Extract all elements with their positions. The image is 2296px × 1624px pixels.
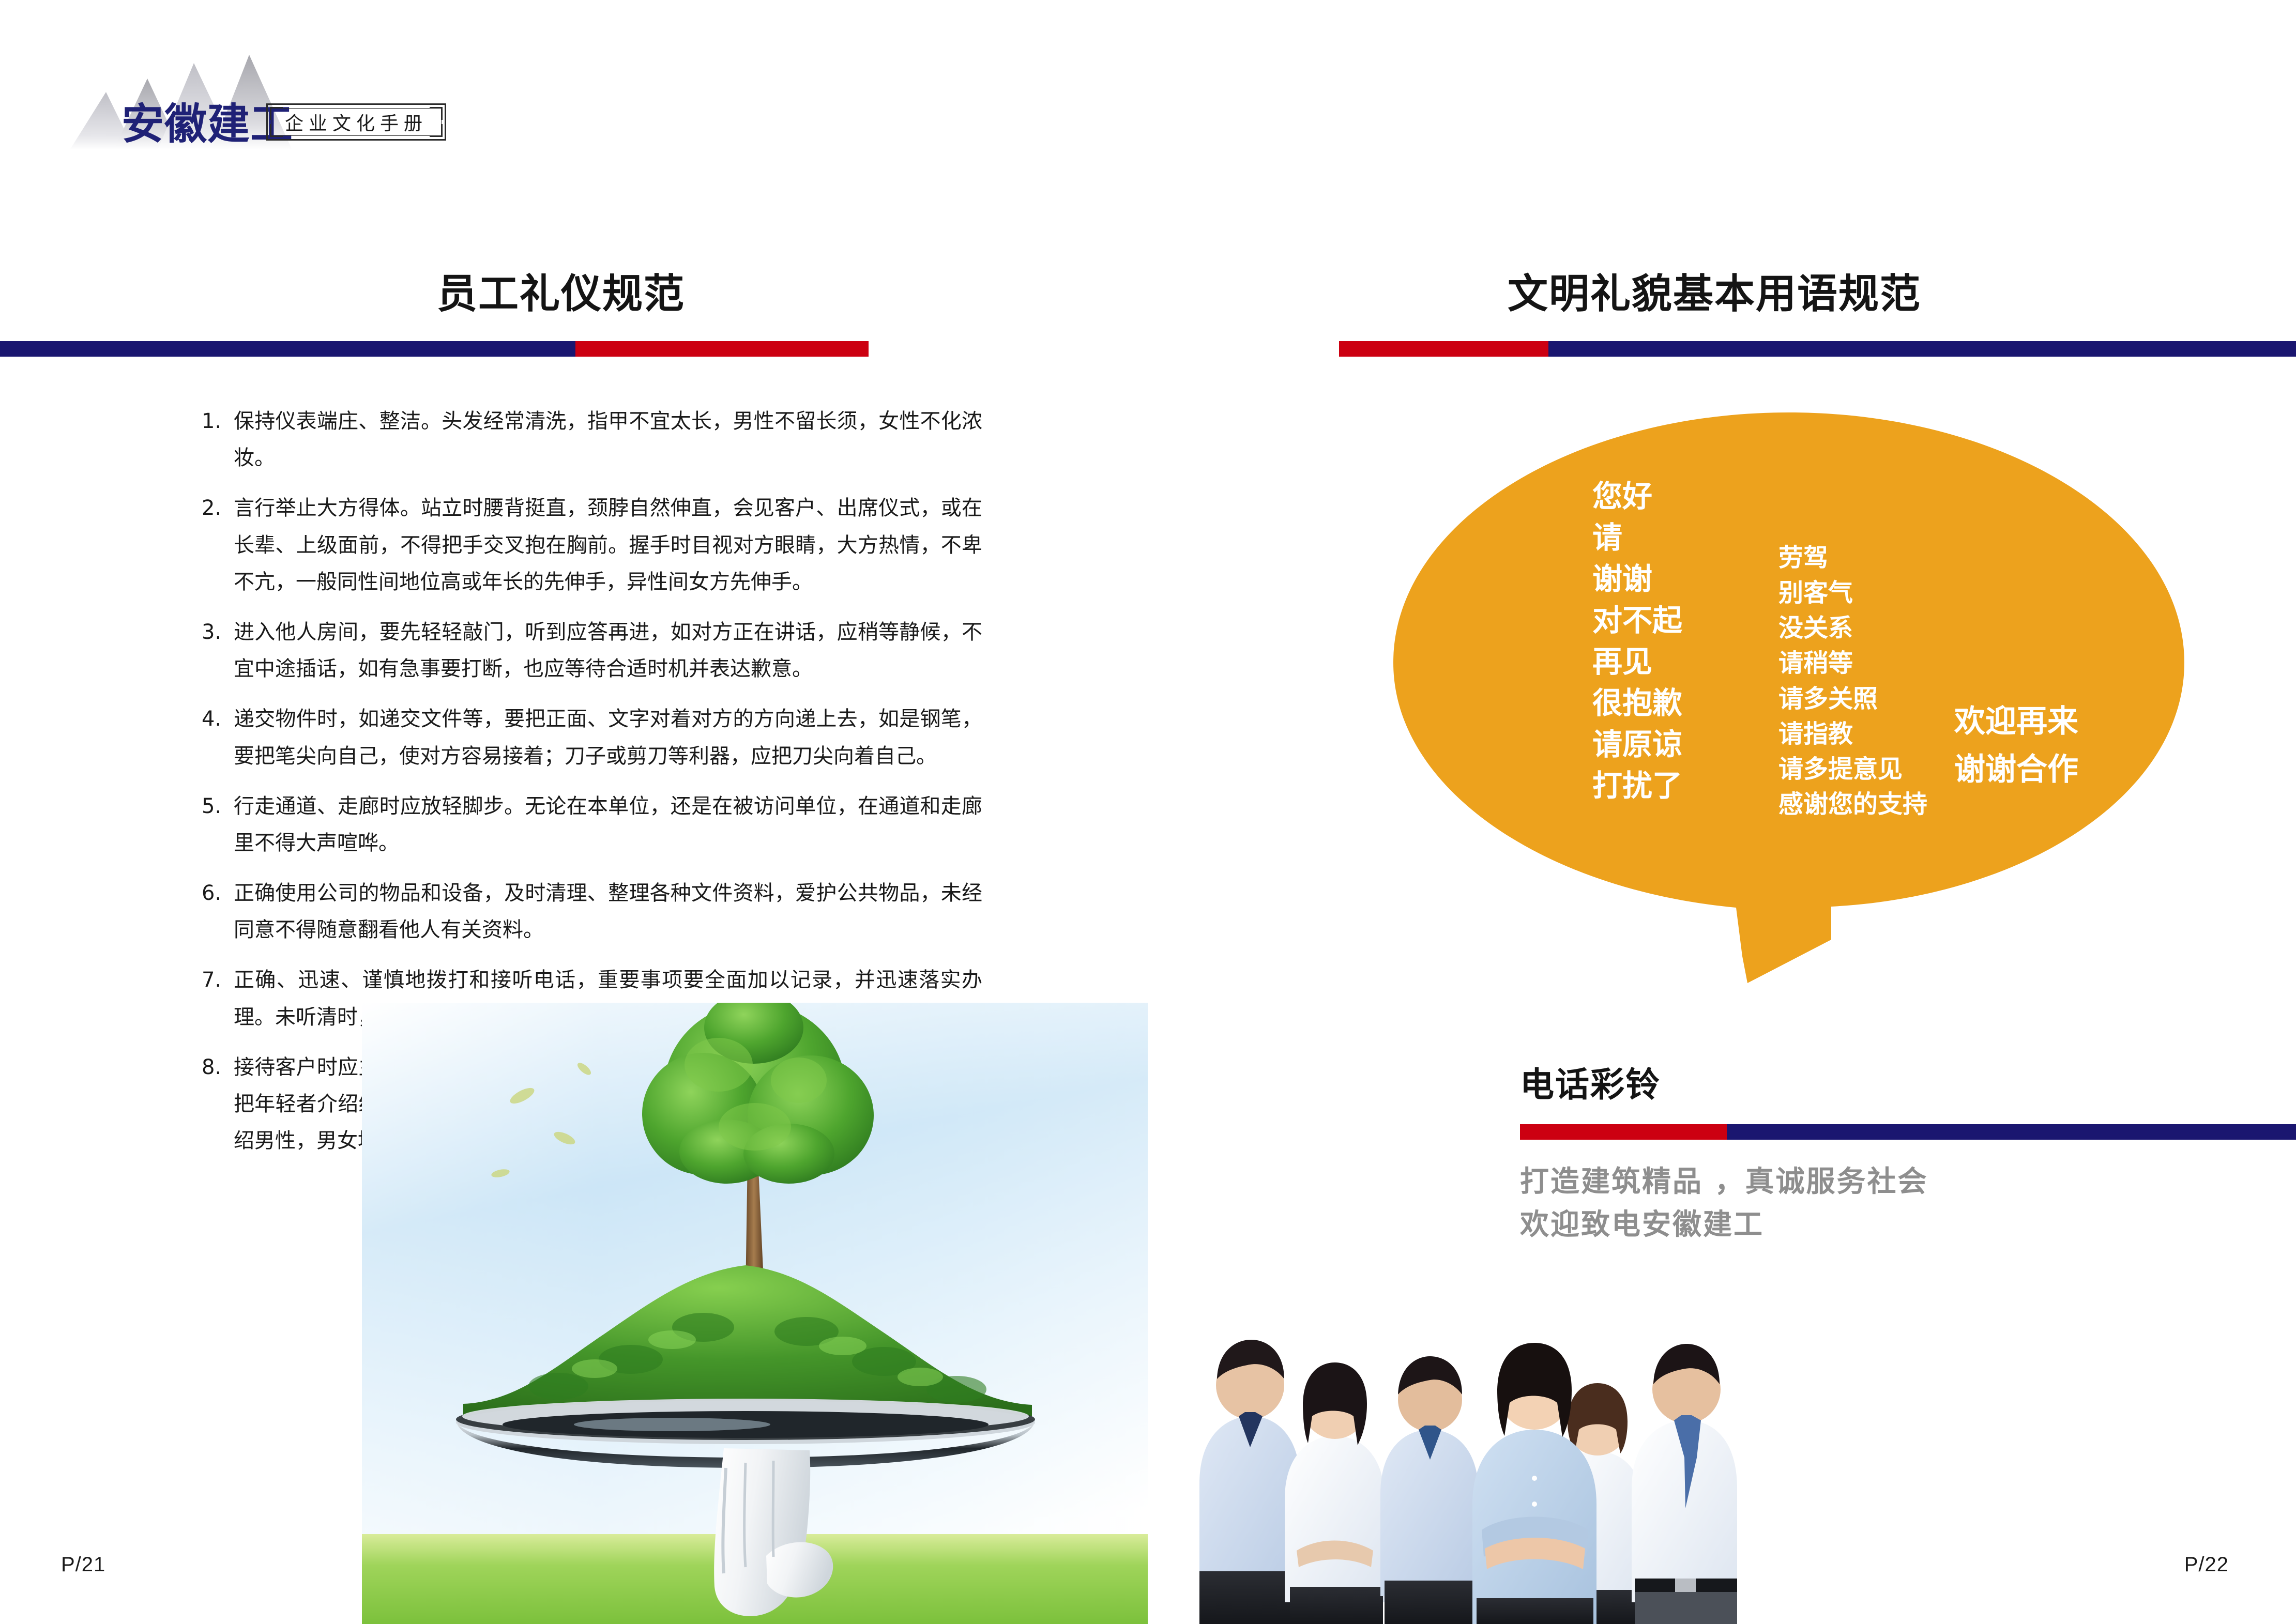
phrase: 请多关照 (1778, 681, 1927, 716)
list-item: 2. 言行举止大方得体。站立时腰背挺直，颈脖自然伸直，会见客户、出席仪式，或在长… (202, 490, 982, 601)
phrase: 感谢您的支持 (1778, 787, 1927, 822)
brand-header: 安徽建工 企业文化手册 (57, 52, 481, 150)
list-item-text: 正确使用公司的物品和设备，及时清理、整理各种文件资料，爱护公共物品，未经同意不得… (234, 875, 982, 948)
right-title-rule (1339, 341, 2296, 357)
left-page: 安徽建工 企业文化手册 员工礼仪规范 1. 保持仪表端庄、整洁。头发经常清洗，指… (0, 0, 1148, 1624)
phrase: 谢谢 (1592, 558, 1682, 600)
list-item-number: 3. (202, 614, 234, 687)
rule-segment-navy (0, 341, 575, 357)
ringtone-line: 打造建筑精品 ，真诚服务社会 (1520, 1160, 1928, 1203)
list-item: 3. 进入他人房间，要先轻轻敲门，听到应答再进，如对方正在讲话，应稍等静候，不宜… (202, 614, 982, 687)
phrase: 劳驾 (1778, 540, 1927, 575)
frame-corner-tl-icon (270, 107, 283, 120)
list-item-number: 5. (202, 788, 234, 862)
phrase: 请原谅 (1592, 724, 1682, 765)
bubble-column-3: 欢迎再来 谢谢合作 (1954, 698, 2078, 794)
phrase: 对不起 (1592, 600, 1682, 641)
rule-segment-red (1339, 341, 1548, 357)
handbook-label: 企业文化手册 (285, 109, 428, 135)
list-item-number: 8. (202, 1049, 234, 1160)
frame-corner-bl-icon (270, 124, 283, 137)
list-item-number: 4. (202, 701, 234, 774)
frame-corner-tr-icon (430, 107, 443, 120)
list-item: 5. 行走通道、走廊时应放轻脚步。无论在本单位，还是在被访问单位，在通道和走廊里… (202, 788, 982, 862)
right-page: 文明礼貌基本用语规范 您好 请 谢谢 对不起 再见 很抱歉 请原谅 打扰了 劳驾… (1148, 0, 2296, 1624)
list-item-text: 进入他人房间，要先轻轻敲门，听到应答再进，如对方正在讲话，应稍等静候，不宜中途插… (234, 614, 982, 687)
rule-segment-navy (1727, 1124, 2296, 1140)
list-item: 6. 正确使用公司的物品和设备，及时清理、整理各种文件资料，爱护公共物品，未经同… (202, 875, 982, 948)
ringtone-title: 电话彩铃 (1520, 1057, 1661, 1107)
phrase: 欢迎再来 (1954, 698, 2078, 746)
phrase: 请稍等 (1778, 646, 1927, 681)
ringtone-rule (1520, 1124, 2296, 1140)
rule-segment-red (575, 341, 869, 357)
bubble-column-2: 劳驾 别客气 没关系 请稍等 请多关照 请指教 请多提意见 感谢您的支持 (1778, 540, 1927, 822)
list-item-number: 1. (202, 403, 234, 477)
rule-segment-navy (1548, 341, 2296, 357)
list-item-number: 2. (202, 490, 234, 601)
list-item-text: 行走通道、走廊时应放轻脚步。无论在本单位，还是在被访问单位，在通道和走廊里不得大… (234, 788, 982, 862)
phrase: 别客气 (1778, 575, 1927, 610)
list-item-text: 保持仪表端庄、整洁。头发经常清洗，指甲不宜太长，男性不留长须，女性不化浓妆。 (234, 403, 982, 477)
right-page-title: 文明礼貌基本用语规范 (1508, 274, 1921, 314)
handbook-label-frame: 企业文化手册 (266, 103, 446, 141)
tree-on-tray-illustration (362, 1003, 1148, 1624)
phrase: 请 (1592, 517, 1682, 558)
bubble-column-1: 您好 请 谢谢 对不起 再见 很抱歉 请原谅 打扰了 (1592, 476, 1682, 806)
phrase: 打扰了 (1592, 765, 1682, 806)
left-title-rule (0, 341, 869, 357)
phrase: 很抱歉 (1592, 682, 1682, 724)
list-item-text: 言行举止大方得体。站立时腰背挺直，颈脖自然伸直，会见客户、出席仪式，或在长辈、上… (234, 490, 982, 601)
phrase: 没关系 (1778, 610, 1927, 646)
left-page-title: 员工礼仪规范 (437, 274, 685, 314)
ringtone-lines: 打造建筑精品 ，真诚服务社会 欢迎致电安徽建工 (1520, 1160, 1928, 1246)
phrase: 再见 (1592, 641, 1682, 682)
list-item-text: 递交物件时，如递交文件等，要把正面、文字对着对方的方向递上去，如是钢笔，要把笔尖… (234, 701, 982, 774)
frame-corner-br-icon (430, 124, 443, 137)
page-number-right: P/22 (2184, 1553, 2229, 1576)
phrase: 请多提意见 (1778, 752, 1927, 787)
list-item-number: 7. (202, 962, 234, 1035)
phrase: 谢谢合作 (1954, 746, 2078, 794)
list-item-number: 6. (202, 875, 234, 948)
list-item: 4. 递交物件时，如递交文件等，要把正面、文字对着对方的方向递上去，如是钢笔，要… (202, 701, 982, 774)
phrase: 请指教 (1778, 716, 1927, 752)
list-item: 1. 保持仪表端庄、整洁。头发经常清洗，指甲不宜太长，男性不留长须，女性不化浓妆… (202, 403, 982, 477)
rule-segment-red (1520, 1124, 1727, 1140)
polite-phrases-bubble: 您好 请 谢谢 对不起 再见 很抱歉 请原谅 打扰了 劳驾 别客气 没关系 请稍… (1386, 408, 2192, 987)
page-number-left: P/21 (61, 1553, 105, 1576)
ringtone-line: 欢迎致电安徽建工 (1520, 1203, 1928, 1246)
phrase: 您好 (1592, 476, 1682, 517)
team-photo-illustration (1189, 1261, 1737, 1624)
